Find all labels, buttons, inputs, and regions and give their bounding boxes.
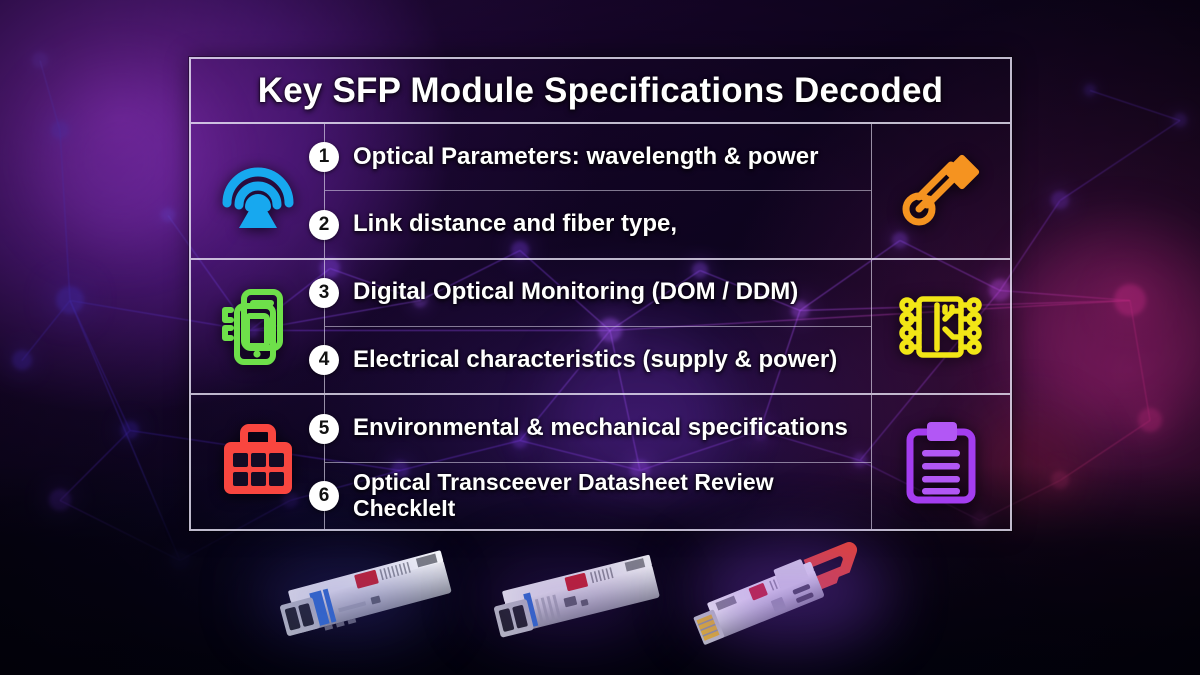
right-icon-cell (871, 395, 1010, 529)
left-icon-cell (191, 124, 325, 258)
clipboard-checklist-icon (902, 418, 980, 506)
fiber-patch-cable-icon (899, 149, 983, 233)
page-title: Key SFP Module Specifications Decoded (258, 71, 944, 111)
item-text: Optical Transceever Datasheet Review Che… (353, 470, 853, 522)
item-number-badge: 6 (309, 481, 339, 511)
table-row: 5 Environmental & mechanical specificati… (191, 395, 1010, 529)
item-number-badge: 4 (309, 345, 339, 375)
items-cell: 3 Digital Optical Monitoring (DOM / DDM)… (325, 260, 871, 394)
sfp-transceiver-module-2 (487, 553, 672, 660)
stacked-devices-monitoring-icon (217, 286, 299, 368)
sfp-transceiver-module-1 (275, 548, 465, 658)
table-header: Key SFP Module Specifications Decoded (191, 59, 1010, 124)
item-number-badge: 5 (309, 414, 339, 444)
toolbox-grid-icon (217, 422, 299, 502)
left-icon-cell (191, 260, 325, 394)
list-item: 5 Environmental & mechanical specificati… (325, 395, 871, 462)
signal-tower-icon (215, 151, 301, 231)
slide-canvas: Key SFP Module Specifications Decoded (0, 0, 1200, 675)
item-text: Link distance and fiber type, (353, 211, 677, 238)
table-row: 1 Optical Parameters: wavelength & power… (191, 124, 1010, 260)
list-item: 4 Electrical characteristics (supply & p… (325, 327, 871, 393)
items-cell: 5 Environmental & mechanical specificati… (325, 395, 871, 529)
qsfp-transceiver-module-3 (690, 542, 900, 665)
items-cell: 1 Optical Parameters: wavelength & power… (325, 124, 871, 258)
table-row: 3 Digital Optical Monitoring (DOM / DDM)… (191, 260, 1010, 396)
list-item: 2 Link distance and fiber type, (325, 191, 871, 257)
table-body: 1 Optical Parameters: wavelength & power… (191, 124, 1010, 529)
item-text: Electrical characteristics (supply & pow… (353, 347, 837, 374)
left-icon-cell (191, 395, 325, 529)
list-item: 6 Optical Transceever Datasheet Review C… (325, 463, 871, 529)
item-text: Digital Optical Monitoring (DOM / DDM) (353, 279, 798, 306)
item-number-badge: 3 (309, 278, 339, 308)
circuit-chip-icon (899, 289, 983, 365)
specifications-table: Key SFP Module Specifications Decoded (189, 57, 1012, 531)
item-text: Optical Parameters: wavelength & power (353, 144, 818, 171)
right-icon-cell (871, 124, 1010, 258)
list-item: 3 Digital Optical Monitoring (DOM / DDM) (325, 260, 871, 327)
item-number-badge: 2 (309, 210, 339, 240)
list-item: 1 Optical Parameters: wavelength & power (325, 124, 871, 191)
right-icon-cell (871, 260, 1010, 394)
item-number-badge: 1 (309, 142, 339, 172)
item-text: Environmental & mechanical specification… (353, 415, 848, 442)
